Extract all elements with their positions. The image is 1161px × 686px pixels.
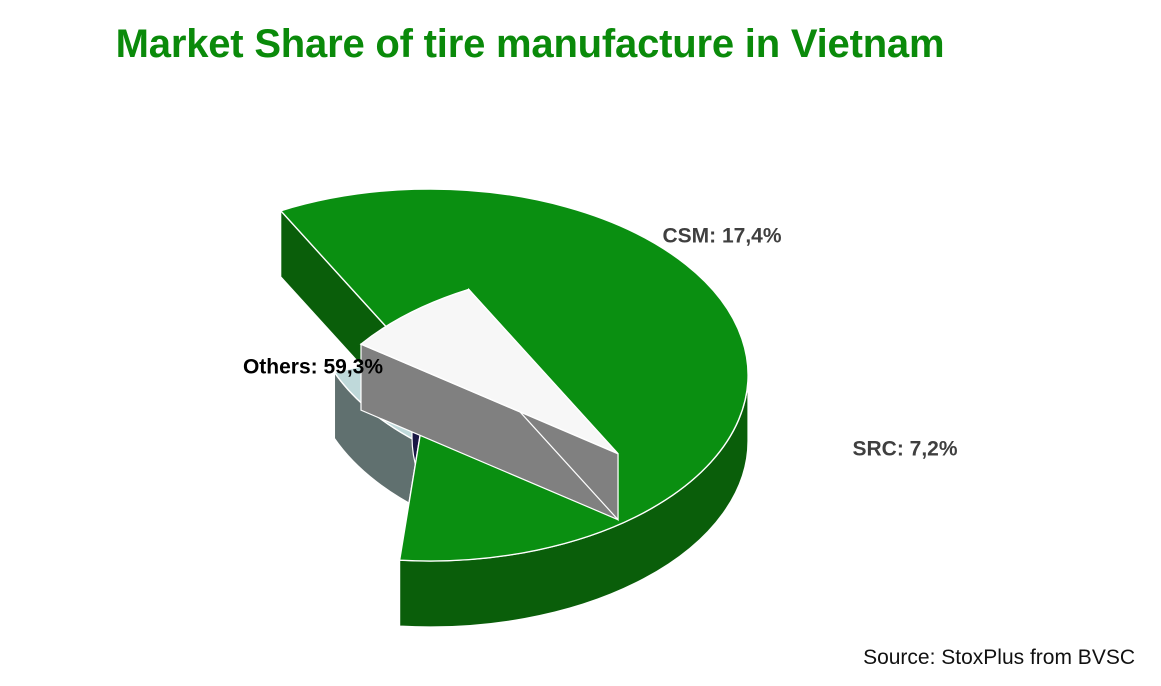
pie-chart-3d: Others: 59,3%CSM: 17,4%DRC: 16,1%SRC: 7,… [0,0,1161,686]
slice-label-src: SRC: 7,2% [852,438,957,461]
slice-label-drc: DRC: 16,1% [863,323,981,346]
chart-canvas: Market Share of tire manufacture in Viet… [0,0,1161,686]
slice-label-others: Others: 59,3% [243,356,383,379]
source-caption: Source: StoxPlus from BVSC [863,646,1135,670]
slice-label-csm: CSM: 17,4% [662,225,781,248]
